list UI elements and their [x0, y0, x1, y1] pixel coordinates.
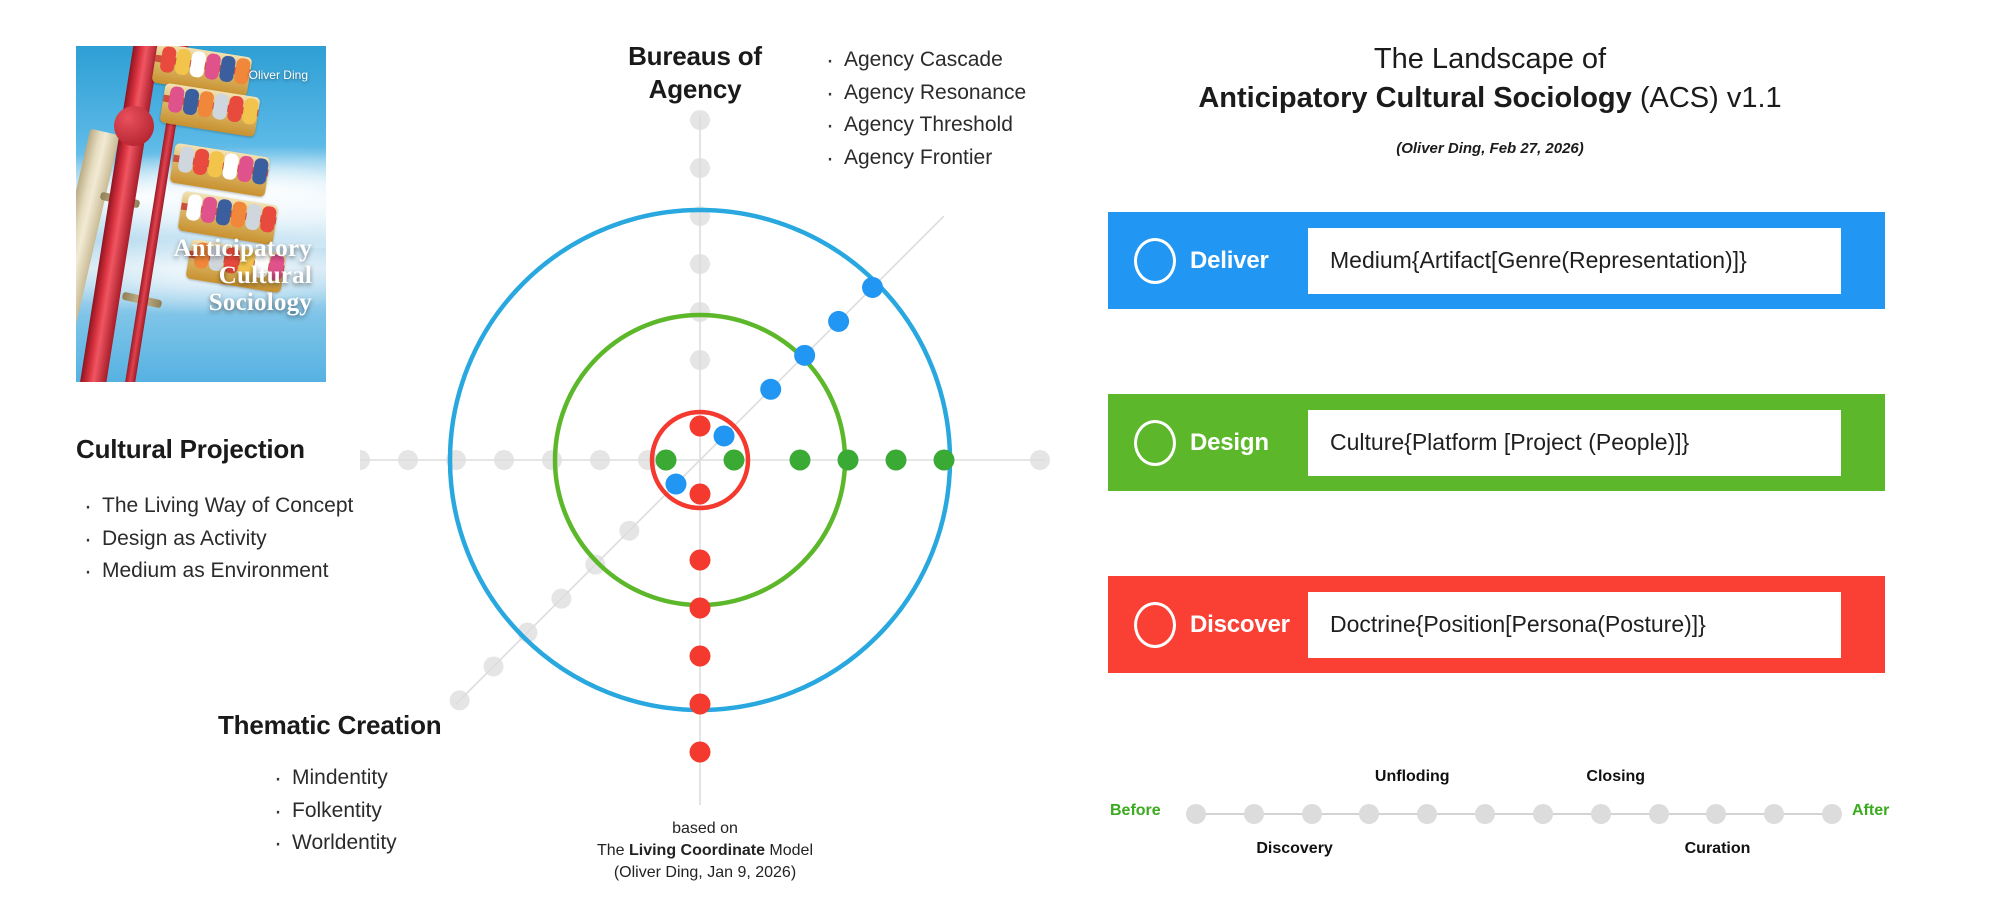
- cover-title-line-2: Cultural: [97, 262, 312, 289]
- timeline-dot[interactable]: [1244, 804, 1264, 824]
- slide-canvas: Oliver Ding Anticipatory Cultural Sociol…: [0, 0, 2000, 924]
- caption-line-1: based on: [360, 818, 1050, 840]
- coaster-rider: [251, 157, 269, 185]
- timeline-label-above: Unfloding: [1375, 768, 1450, 786]
- grid-tick-dot: [450, 690, 470, 710]
- timeline-dot[interactable]: [1533, 804, 1553, 824]
- timeline-dot[interactable]: [1706, 804, 1726, 824]
- band-deliver[interactable]: Deliver Medium{Artifact[Genre(Representa…: [1108, 212, 1885, 309]
- cultural-projection-title: Cultural Projection: [76, 434, 305, 465]
- band-label-deliver: Deliver: [1190, 247, 1308, 275]
- grid-tick-dot: [398, 450, 418, 470]
- caption-line-2: The Living Coordinate Model: [360, 840, 1050, 862]
- diagram-caption: based on The Living Coordinate Model (Ol…: [360, 818, 1050, 884]
- data-dot-bureaus-of-agency: [690, 416, 711, 437]
- cultural-projection-item: Design as Activity: [76, 523, 353, 556]
- circle-icon-deliver: [1134, 238, 1176, 284]
- grid-tick-dot: [690, 302, 710, 322]
- grid-tick-dot: [542, 450, 562, 470]
- data-dot-bureaus-of-agency: [690, 694, 711, 715]
- coaster-rider: [259, 205, 277, 233]
- landscape-title-line-1: The Landscape of: [1060, 40, 1920, 79]
- caption-pre: The: [597, 842, 629, 859]
- grid-tick-dot: [551, 589, 571, 609]
- grid-tick-dot: [484, 656, 504, 676]
- data-dot-bureaus-of-agency: [690, 646, 711, 667]
- band-formula-deliver: Medium{Artifact[Genre(Representation)]}: [1308, 228, 1841, 294]
- caption-bold: Living Coordinate: [629, 842, 765, 859]
- circle-icon-discover: [1134, 602, 1176, 648]
- living-coordinate-diagram: [360, 100, 1050, 820]
- data-dot-bureaus-of-agency: [690, 742, 711, 763]
- timeline-axis: [1188, 813, 1838, 815]
- caption-line-3: (Oliver Ding, Jan 9, 2026): [360, 862, 1050, 884]
- data-dot-cultural-projection: [838, 450, 859, 471]
- data-dot-cultural-projection: [886, 450, 907, 471]
- cultural-projection-item: The Living Way of Concept: [76, 490, 353, 523]
- band-label-discover: Discover: [1190, 611, 1308, 639]
- grid-tick-dot: [360, 450, 370, 470]
- band-formula-design: Culture{Platform [Project (People)]}: [1308, 410, 1841, 476]
- landscape-title-rest: (ACS) v1.1: [1632, 82, 1782, 114]
- book-cover-image: Oliver Ding Anticipatory Cultural Sociol…: [76, 46, 326, 382]
- grid-tick-dot: [1030, 450, 1050, 470]
- timeline-dot[interactable]: [1649, 804, 1669, 824]
- band-formula-discover: Doctrine{Position[Persona(Posture)]}: [1308, 592, 1841, 658]
- timeline-dot[interactable]: [1764, 804, 1784, 824]
- grid-tick-dot: [690, 110, 710, 130]
- data-dot-cultural-projection: [934, 450, 955, 471]
- data-dot-thematic-creation: [714, 425, 735, 446]
- cover-title-line-3: Sociology: [97, 289, 312, 316]
- data-dot-cultural-projection: [790, 450, 811, 471]
- timeline-dot[interactable]: [1417, 804, 1437, 824]
- timeline-end-label: After: [1852, 802, 1889, 820]
- band-design[interactable]: Design Culture{Platform [Project (People…: [1108, 394, 1885, 491]
- timeline-dot[interactable]: [1302, 804, 1322, 824]
- cultural-projection-item: Medium as Environment: [76, 555, 353, 588]
- living-coordinate-svg: [360, 100, 1050, 820]
- data-dot-thematic-creation: [665, 474, 686, 495]
- timeline-label-above: Closing: [1586, 768, 1645, 786]
- data-dot-cultural-projection: [656, 450, 677, 471]
- coaster-rider: [241, 97, 259, 125]
- grid-tick-dot: [690, 158, 710, 178]
- cover-author: Oliver Ding: [249, 68, 308, 82]
- timeline-dot[interactable]: [1822, 804, 1842, 824]
- data-dot-thematic-creation: [794, 345, 815, 366]
- landscape-title-bold: Anticipatory Cultural Sociology: [1198, 82, 1631, 114]
- landscape-subtitle: (Oliver Ding, Feb 27, 2026): [1060, 140, 1920, 157]
- grid-tick-dot: [590, 450, 610, 470]
- landscape-title-line-2: Anticipatory Cultural Sociology (ACS) v1…: [1060, 79, 1920, 118]
- timeline-label-below: Curation: [1685, 840, 1751, 858]
- band-discover[interactable]: Discover Doctrine{Position[Persona(Postu…: [1108, 576, 1885, 673]
- grid-tick-dot: [690, 254, 710, 274]
- cover-title: Anticipatory Cultural Sociology: [97, 235, 312, 316]
- caption-post: Model: [765, 842, 813, 859]
- data-dot-thematic-creation: [760, 379, 781, 400]
- bureaus-of-agency-title: Bureaus of Agency: [600, 40, 790, 105]
- cover-title-line-1: Anticipatory: [97, 235, 312, 262]
- timeline-dot[interactable]: [1359, 804, 1379, 824]
- data-dot-bureaus-of-agency: [690, 484, 711, 505]
- data-dot-bureaus-of-agency: [690, 598, 711, 619]
- circle-icon-design: [1134, 420, 1176, 466]
- timeline-dot[interactable]: [1591, 804, 1611, 824]
- process-timeline: Before After UnflodingClosingDiscoveryCu…: [1110, 760, 1910, 890]
- data-dot-cultural-projection: [724, 450, 745, 471]
- timeline-dot[interactable]: [1475, 804, 1495, 824]
- landscape-title: The Landscape of Anticipatory Cultural S…: [1060, 40, 1920, 118]
- coaster-hub: [114, 106, 154, 146]
- timeline-label-below: Discovery: [1256, 840, 1333, 858]
- timeline-start-label: Before: [1110, 802, 1161, 820]
- agency-item: Agency Cascade: [818, 44, 1026, 77]
- data-dot-bureaus-of-agency: [690, 550, 711, 571]
- band-label-design: Design: [1190, 429, 1308, 457]
- data-dot-thematic-creation: [862, 277, 883, 298]
- grid-tick-dot: [494, 450, 514, 470]
- timeline-dot[interactable]: [1186, 804, 1206, 824]
- grid-tick-dot: [690, 350, 710, 370]
- data-dot-thematic-creation: [828, 311, 849, 332]
- bureaus-title-line-1: Bureaus of: [600, 40, 790, 73]
- grid-tick-dot: [638, 450, 658, 470]
- cultural-projection-list: The Living Way of ConceptDesign as Activ…: [76, 490, 353, 588]
- grid-tick-dot: [619, 521, 639, 541]
